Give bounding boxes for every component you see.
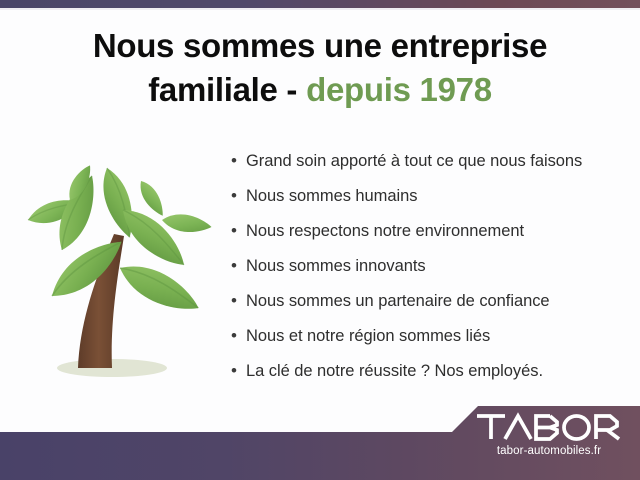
list-item-label: Nous sommes humains	[246, 185, 631, 207]
page-title-line-1: Nous sommes une entreprise	[0, 24, 640, 68]
page-title-line-2: familiale -depuis 1978	[0, 68, 640, 112]
family-tree-illustration	[8, 148, 218, 388]
list-item-label: La clé de notre réussite ? Nos employés.	[246, 360, 631, 382]
list-item-label: Nous sommes innovants	[246, 255, 631, 277]
list-item-label: Nous respectons notre environnement	[246, 220, 631, 242]
brand-url[interactable]: tabor-automobiles.fr	[474, 445, 624, 457]
list-item: • Nous respectons notre environnement	[231, 220, 631, 255]
list-item-label: Nous sommes un partenaire de confiance	[246, 290, 631, 312]
list-item: • Nous et notre région sommes liés	[231, 325, 631, 360]
bullet-marker-icon: •	[231, 290, 246, 312]
bullet-marker-icon: •	[231, 150, 246, 172]
list-item-label: Nous et notre région sommes liés	[246, 325, 631, 347]
slide-canvas: Nous sommes une entreprise familiale -de…	[0, 0, 640, 480]
bullet-marker-icon: •	[231, 325, 246, 347]
list-item: • Nous sommes humains	[231, 185, 631, 220]
top-accent-bar-edge	[0, 8, 640, 10]
page-title-line-2-main: familiale -	[148, 71, 297, 108]
values-list: • Grand soin apporté à tout ce que nous …	[231, 150, 631, 395]
tabor-wordmark-icon	[474, 412, 624, 442]
list-item-label: Grand soin apporté à tout ce que nous fa…	[246, 150, 631, 172]
bullet-marker-icon: •	[231, 185, 246, 207]
bullet-marker-icon: •	[231, 220, 246, 242]
page-title: Nous sommes une entreprise familiale -de…	[0, 24, 640, 111]
list-item: • La clé de notre réussite ? Nos employé…	[231, 360, 631, 395]
list-item: • Grand soin apporté à tout ce que nous …	[231, 150, 631, 185]
brand-logo[interactable]: tabor-automobiles.fr	[474, 412, 624, 457]
bullet-marker-icon: •	[231, 360, 246, 382]
list-item: • Nous sommes innovants	[231, 255, 631, 290]
bullet-marker-icon: •	[231, 255, 246, 277]
top-accent-bar	[0, 0, 640, 8]
list-item: • Nous sommes un partenaire de confiance	[231, 290, 631, 325]
page-title-accent: depuis 1978	[306, 71, 492, 108]
